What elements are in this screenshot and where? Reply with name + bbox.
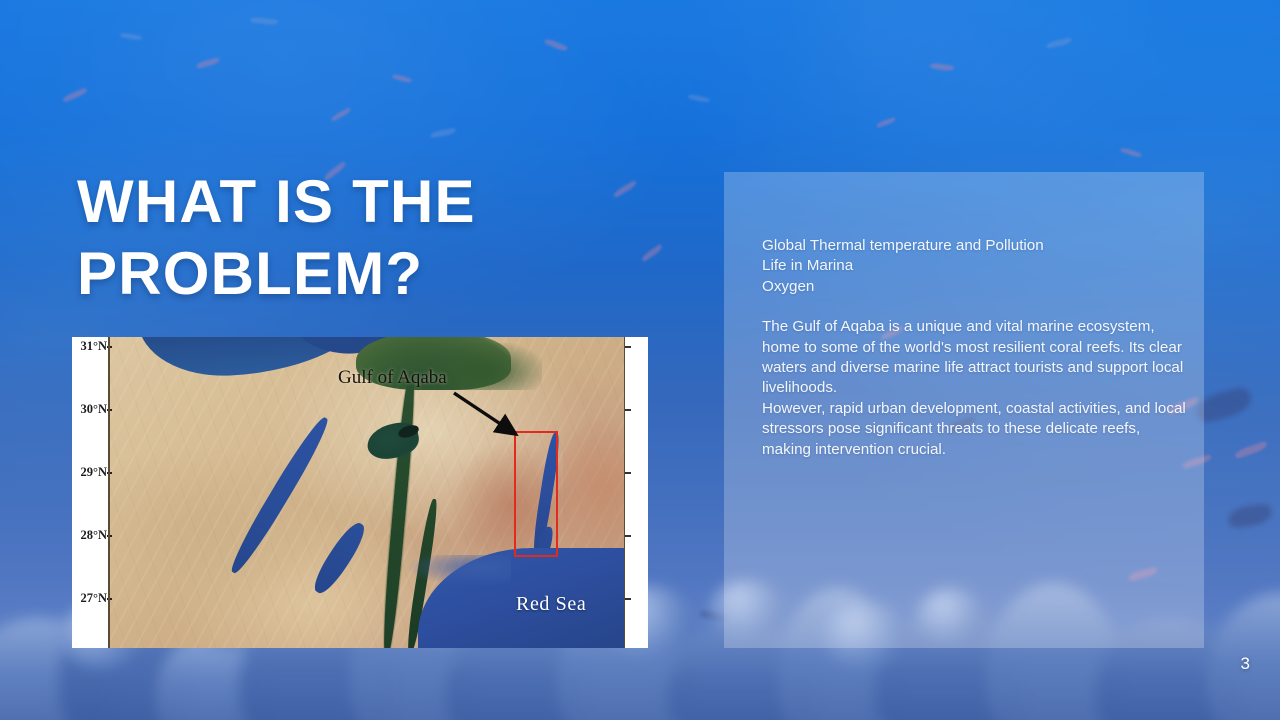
axis-tick xyxy=(624,472,631,474)
latitude-tick-label: 30°N xyxy=(80,402,107,417)
study-area-highlight xyxy=(514,431,558,557)
red-sea-shallows xyxy=(408,555,511,586)
axis-tick xyxy=(624,409,631,411)
red-sea-label: Red Sea xyxy=(516,593,586,616)
page-title: WHAT IS THE PROBLEM? xyxy=(77,166,677,310)
latitude-axis: 31°N 30°N 29°N 28°N 27°N xyxy=(72,337,108,648)
gulf-of-aqaba-label: Gulf of Aqaba xyxy=(338,367,447,389)
topic-list: Global Thermal temperature and Pollution… xyxy=(762,236,1186,297)
axis-frame-line-right xyxy=(624,337,626,648)
right-axis-strip xyxy=(625,337,648,648)
axis-tick xyxy=(624,535,631,537)
latitude-tick-label: 31°N xyxy=(80,339,107,354)
latitude-tick-label: 28°N xyxy=(80,528,107,543)
panel-text-block: Global Thermal temperature and Pollution… xyxy=(762,236,1186,460)
axis-tick xyxy=(624,598,631,600)
annotation-arrow-icon xyxy=(450,389,522,441)
map-figure: Gulf of Aqaba Red Sea 31°N 30°N 29°N 28°… xyxy=(72,337,648,648)
axis-tick xyxy=(624,346,631,348)
slide-number: 3 xyxy=(1241,654,1250,674)
body-paragraph: The Gulf of Aqaba is a unique and vital … xyxy=(762,317,1186,460)
latitude-tick-label: 27°N xyxy=(80,591,107,606)
axis-frame-line-left xyxy=(108,337,110,648)
content-panel: Global Thermal temperature and Pollution… xyxy=(724,172,1204,648)
presentation-slide: WHAT IS THE PROBLEM? Global Thermal temp… xyxy=(0,0,1280,720)
spacer xyxy=(762,297,1186,317)
arabian-highlands xyxy=(563,418,625,561)
latitude-tick-label: 29°N xyxy=(80,465,107,480)
